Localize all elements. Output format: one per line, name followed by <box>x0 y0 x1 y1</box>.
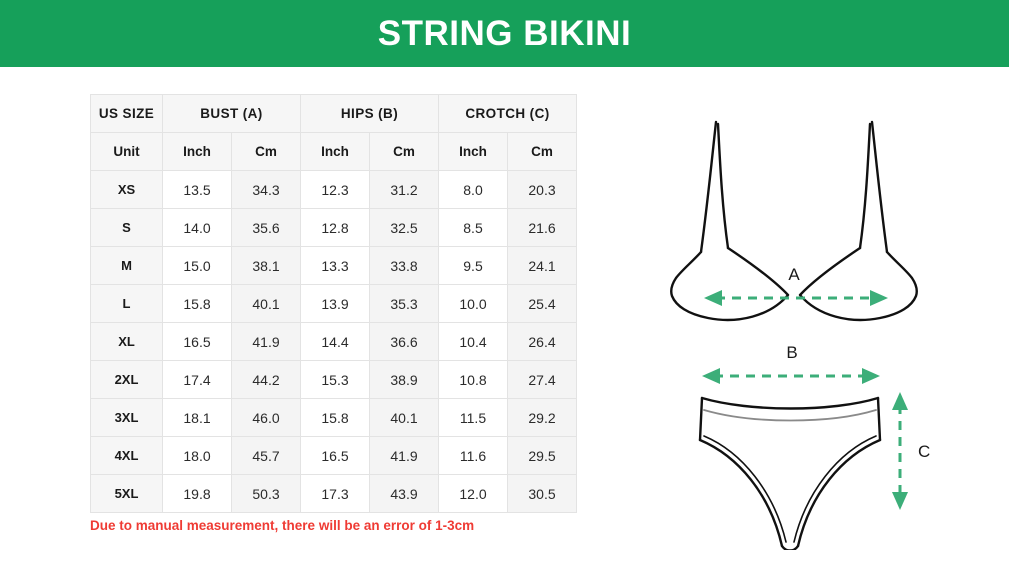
cell-hips-inch: 16.5 <box>301 437 370 475</box>
cell-bust-cm: 40.1 <box>232 285 301 323</box>
size-chart-table: US SIZE BUST (A) HIPS (B) CROTCH (C) Uni… <box>90 94 577 513</box>
cell-hips-cm: 31.2 <box>370 171 439 209</box>
cell-hips-cm: 33.8 <box>370 247 439 285</box>
header-crotch-cm: Cm <box>508 133 577 171</box>
cell-size: 2XL <box>91 361 163 399</box>
cell-crotch-cm: 26.4 <box>508 323 577 361</box>
cell-crotch-inch: 9.5 <box>439 247 508 285</box>
page-title: STRING BIKINI <box>378 14 631 54</box>
cell-crotch-inch: 12.0 <box>439 475 508 513</box>
header-crotch-inch: Inch <box>439 133 508 171</box>
dimension-arrow-a <box>704 290 888 306</box>
cell-hips-cm: 32.5 <box>370 209 439 247</box>
cell-crotch-cm: 29.5 <box>508 437 577 475</box>
size-chart-table-container: US SIZE BUST (A) HIPS (B) CROTCH (C) Uni… <box>90 94 577 513</box>
table-row: XS 13.5 34.3 12.3 31.2 8.0 20.3 <box>91 171 577 209</box>
cell-bust-cm: 38.1 <box>232 247 301 285</box>
cell-hips-inch: 13.3 <box>301 247 370 285</box>
cell-bust-inch: 14.0 <box>163 209 232 247</box>
cell-hips-inch: 17.3 <box>301 475 370 513</box>
cell-hips-inch: 12.8 <box>301 209 370 247</box>
cell-bust-cm: 35.6 <box>232 209 301 247</box>
cell-bust-inch: 17.4 <box>163 361 232 399</box>
garment-diagrams: A B <box>660 80 1000 550</box>
dimension-label-c: C <box>918 442 930 461</box>
cell-hips-cm: 36.6 <box>370 323 439 361</box>
cell-crotch-cm: 25.4 <box>508 285 577 323</box>
bikini-bottom-illustration <box>700 398 880 550</box>
cell-size: S <box>91 209 163 247</box>
header-bust-cm: Cm <box>232 133 301 171</box>
cell-bust-cm: 44.2 <box>232 361 301 399</box>
table-row: 3XL 18.1 46.0 15.8 40.1 11.5 29.2 <box>91 399 577 437</box>
cell-hips-inch: 12.3 <box>301 171 370 209</box>
table-body: XS 13.5 34.3 12.3 31.2 8.0 20.3 S 14.0 3… <box>91 171 577 513</box>
cell-crotch-cm: 27.4 <box>508 361 577 399</box>
cell-hips-inch: 15.8 <box>301 399 370 437</box>
header-crotch: CROTCH (C) <box>439 95 577 133</box>
table-row: S 14.0 35.6 12.8 32.5 8.5 21.6 <box>91 209 577 247</box>
dimension-label-b: B <box>786 343 797 362</box>
cell-crotch-inch: 11.6 <box>439 437 508 475</box>
cell-bust-inch: 15.0 <box>163 247 232 285</box>
table-row: 4XL 18.0 45.7 16.5 41.9 11.6 29.5 <box>91 437 577 475</box>
cell-bust-inch: 18.0 <box>163 437 232 475</box>
cell-crotch-inch: 11.5 <box>439 399 508 437</box>
cell-bust-inch: 15.8 <box>163 285 232 323</box>
cell-bust-inch: 19.8 <box>163 475 232 513</box>
table-row: L 15.8 40.1 13.9 35.3 10.0 25.4 <box>91 285 577 323</box>
table-row: 2XL 17.4 44.2 15.3 38.9 10.8 27.4 <box>91 361 577 399</box>
table-header-unit-row: Unit Inch Cm Inch Cm Inch Cm <box>91 133 577 171</box>
cell-bust-cm: 50.3 <box>232 475 301 513</box>
measurement-disclaimer: Due to manual measurement, there will be… <box>90 518 474 533</box>
cell-crotch-cm: 20.3 <box>508 171 577 209</box>
cell-crotch-inch: 10.4 <box>439 323 508 361</box>
cell-crotch-cm: 24.1 <box>508 247 577 285</box>
dimension-arrow-b <box>702 368 880 384</box>
header-hips-cm: Cm <box>370 133 439 171</box>
cell-crotch-inch: 8.5 <box>439 209 508 247</box>
table-row: XL 16.5 41.9 14.4 36.6 10.4 26.4 <box>91 323 577 361</box>
cell-hips-cm: 35.3 <box>370 285 439 323</box>
bikini-top-illustration <box>671 122 917 320</box>
header-unit: Unit <box>91 133 163 171</box>
cell-size: 5XL <box>91 475 163 513</box>
cell-size: 3XL <box>91 399 163 437</box>
table-header-group-row: US SIZE BUST (A) HIPS (B) CROTCH (C) <box>91 95 577 133</box>
cell-hips-inch: 13.9 <box>301 285 370 323</box>
cell-size: M <box>91 247 163 285</box>
header-bust-inch: Inch <box>163 133 232 171</box>
cell-hips-inch: 14.4 <box>301 323 370 361</box>
cell-bust-inch: 18.1 <box>163 399 232 437</box>
header-hips-inch: Inch <box>301 133 370 171</box>
cell-hips-cm: 41.9 <box>370 437 439 475</box>
table-row: 5XL 19.8 50.3 17.3 43.9 12.0 30.5 <box>91 475 577 513</box>
cell-crotch-cm: 30.5 <box>508 475 577 513</box>
header-us-size: US SIZE <box>91 95 163 133</box>
cell-crotch-cm: 21.6 <box>508 209 577 247</box>
header-bust: BUST (A) <box>163 95 301 133</box>
cell-bust-inch: 16.5 <box>163 323 232 361</box>
header-banner: STRING BIKINI <box>0 0 1009 67</box>
cell-crotch-inch: 10.8 <box>439 361 508 399</box>
cell-hips-cm: 38.9 <box>370 361 439 399</box>
cell-size: L <box>91 285 163 323</box>
cell-size: 4XL <box>91 437 163 475</box>
cell-bust-cm: 45.7 <box>232 437 301 475</box>
table-row: M 15.0 38.1 13.3 33.8 9.5 24.1 <box>91 247 577 285</box>
dimension-label-a: A <box>788 265 800 284</box>
table-head: US SIZE BUST (A) HIPS (B) CROTCH (C) Uni… <box>91 95 577 171</box>
cell-size: XL <box>91 323 163 361</box>
cell-bust-inch: 13.5 <box>163 171 232 209</box>
cell-bust-cm: 41.9 <box>232 323 301 361</box>
cell-hips-cm: 40.1 <box>370 399 439 437</box>
cell-crotch-cm: 29.2 <box>508 399 577 437</box>
dimension-arrow-c <box>892 392 908 510</box>
cell-hips-inch: 15.3 <box>301 361 370 399</box>
cell-bust-cm: 34.3 <box>232 171 301 209</box>
cell-crotch-inch: 10.0 <box>439 285 508 323</box>
cell-size: XS <box>91 171 163 209</box>
header-hips: HIPS (B) <box>301 95 439 133</box>
cell-bust-cm: 46.0 <box>232 399 301 437</box>
cell-hips-cm: 43.9 <box>370 475 439 513</box>
cell-crotch-inch: 8.0 <box>439 171 508 209</box>
